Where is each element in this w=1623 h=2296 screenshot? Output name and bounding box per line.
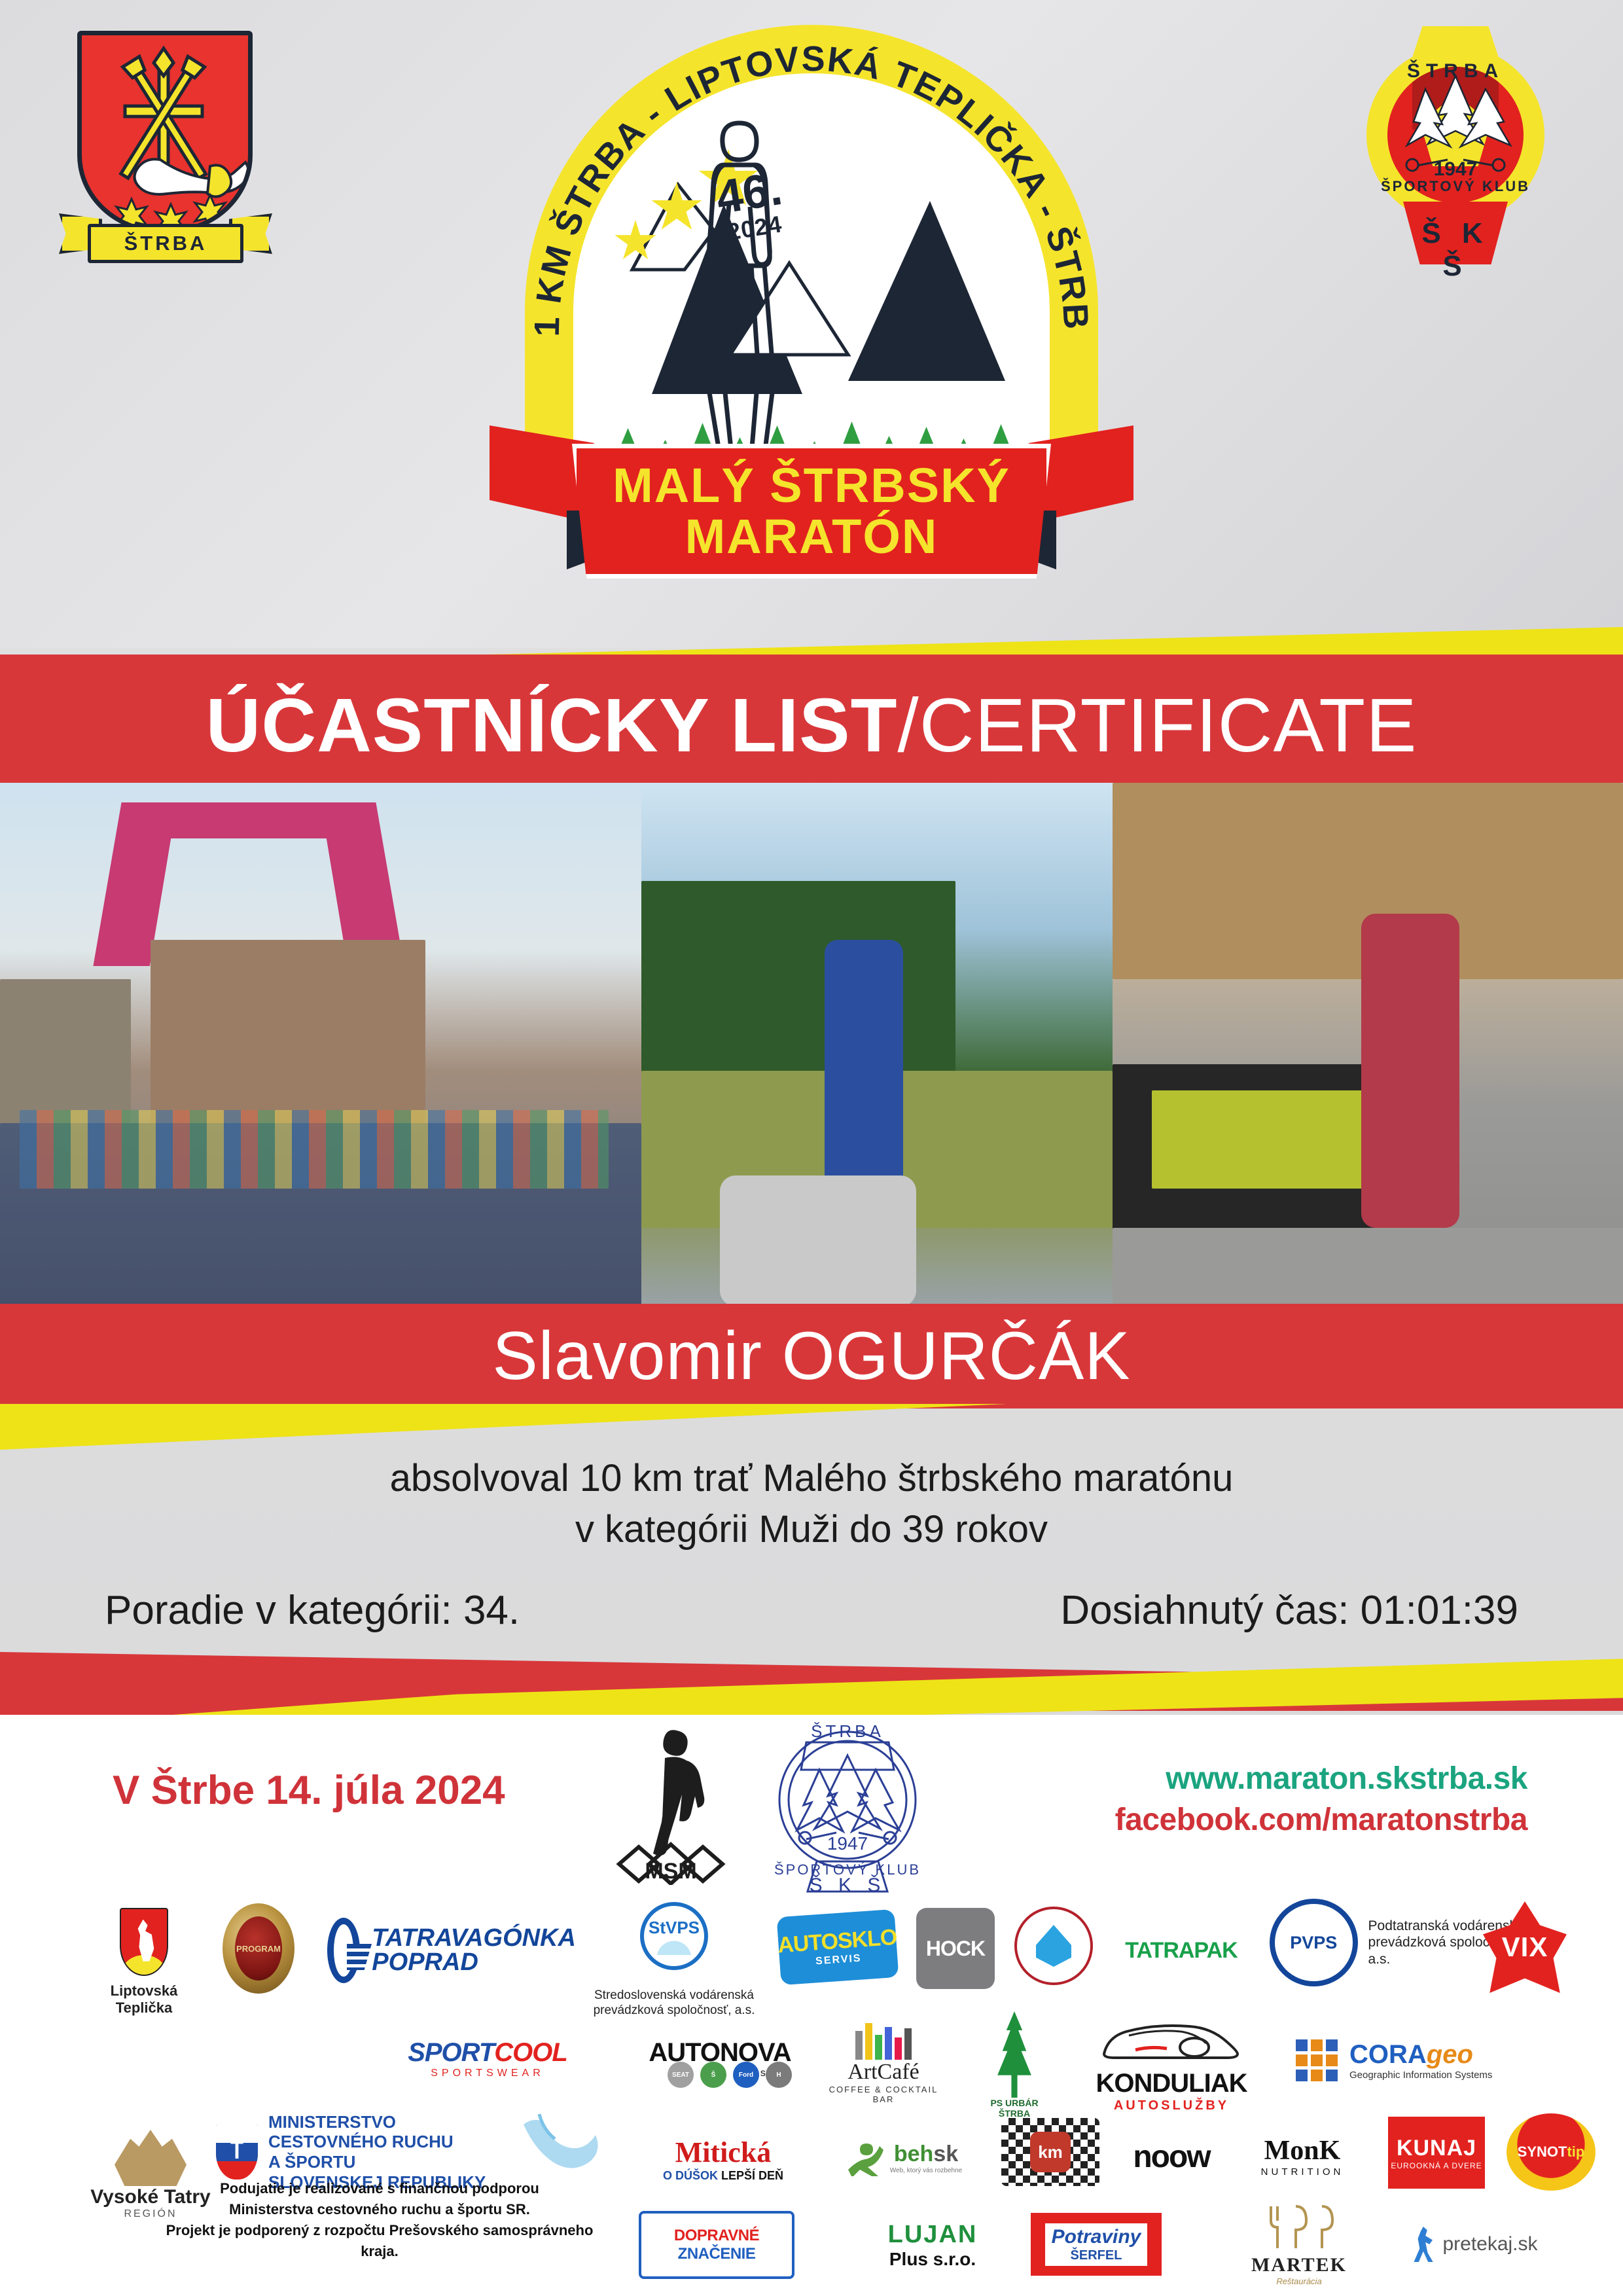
support-note-line: Projekt je podporený z rozpočtu Prešovsk…	[151, 2220, 609, 2262]
pretekaj-label: pretekaj.sk	[1442, 2233, 1537, 2255]
event-emblem: 31 KM ŠTRBA - LIPTOVSKÁ TEPLIČKA - ŠTRBA…	[490, 18, 1133, 634]
race-photo-strip	[0, 783, 1623, 1306]
program-trencin-seal-icon: PROGRAM	[223, 1903, 294, 1994]
potraviny-label: Potraviny	[1052, 2226, 1141, 2248]
km-label: km	[1030, 2132, 1071, 2172]
tatravagonka-mark-icon	[327, 1918, 360, 1983]
autosklo-sublabel: SERVIS	[815, 1952, 862, 1967]
konduliak-car-icon	[1096, 2017, 1247, 2066]
konduliak-sublabel: AUTOSLUŽBY	[1096, 2098, 1247, 2113]
certificate-page: ŠTRBA	[0, 0, 1623, 2296]
sponsor-liptovska-teplicka: Liptovská Teplička	[92, 1897, 196, 2028]
stamp-arc-top: ŠTRBA	[811, 1721, 884, 1741]
sponsor-water-splash	[497, 2092, 622, 2190]
lujan-label: LUJAN	[888, 2221, 978, 2249]
funding-support-note: Podujatie je realizované s finančnou pod…	[151, 2178, 609, 2262]
result-line-2: v kategórii Muži do 39 rokov	[0, 1504, 1623, 1555]
msm-runner-logo: MSM	[609, 1721, 733, 1885]
pvps-label: PVPS	[1290, 1933, 1337, 1953]
tatravagonka-line1: TATRAVAGÓNKA	[372, 1926, 576, 1950]
emblem-bib-number: 46. 2024	[713, 168, 789, 247]
martek-sublabel: Reštaurácia	[1250, 2276, 1348, 2286]
ps-urbar-tree-icon	[990, 2011, 1039, 2098]
coat-of-arms-shield	[77, 31, 253, 234]
konduliak-label: KONDULIAK	[1096, 2069, 1247, 2098]
ministry-line-2: CESTOVNÉHO RUCHU	[268, 2132, 486, 2152]
result-line-1: absolvoval 10 km trať Malého štrbského m…	[0, 1453, 1623, 1504]
coat-of-arms-label: ŠTRBA	[124, 232, 207, 255]
kunaj-sublabel: EUROOKNÁ A DVERE	[1391, 2161, 1482, 2170]
tatrapak-label: TATRAPAK	[1125, 1938, 1237, 1964]
category-rank: Poradie v kategórii: 34.	[105, 1587, 520, 1634]
sks-arc-top-label: ŠTRBA	[1366, 60, 1544, 82]
miticka-sublabel-1: O DÚŠOK	[663, 2169, 721, 2182]
artcafe-label: ArtCafé	[818, 2060, 949, 2085]
sponsor-dopravne-znacenie: DOPRAVNÉ ZNAČENIE	[635, 2206, 798, 2284]
stamp-abbrev: Š K Š	[810, 1874, 886, 1893]
photo-finish-runner	[1113, 783, 1623, 1306]
sponsor-sportcool: SPORTCOOL SPORTSWEAR	[380, 2016, 596, 2101]
program-trencin-label: PROGRAM	[235, 1916, 282, 1981]
pd-crest-icon	[1014, 1907, 1093, 1985]
noow-label: noow	[1133, 2139, 1209, 2175]
emblem-ribbon-line2: MARATÓN	[685, 511, 938, 562]
sponsor-synot-tip: SYNOTtip	[1499, 2106, 1603, 2198]
sportcool-sublabel: SPORTSWEAR	[408, 2068, 567, 2079]
lt-caption-line1: Liptovská	[111, 1982, 178, 2000]
sks-abbrev-label: Š K Š	[1403, 217, 1508, 283]
monk-label: MonK	[1261, 2135, 1344, 2166]
liptovska-teplicka-crest-icon	[120, 1908, 168, 1976]
photo-start-line	[0, 783, 641, 1306]
header-section: ŠTRBA	[0, 0, 1623, 648]
sks-year-label: 1947	[1387, 158, 1524, 181]
sponsor-tatrapak: TATRAPAK	[1106, 1918, 1257, 1983]
sponsor-behsk: behsk Web, ktorý vás rozbehne	[818, 2115, 988, 2200]
corageo-grid-icon	[1296, 2039, 1338, 2081]
car-brand-ford: Ford	[733, 2062, 759, 2088]
potraviny-serfel-icon: Potraviny ŠERFEL	[1031, 2213, 1162, 2276]
title-english: CERTIFICATE	[919, 681, 1418, 769]
ribbon-body: ŠTRBA	[88, 224, 243, 263]
ministry-line-3: A ŠPORTU	[268, 2152, 486, 2172]
svg-text:31 KM ŠTRBA - LIPTOVSKÁ TEPLIČ: 31 KM ŠTRBA - LIPTOVSKÁ TEPLIČKA - ŠTRBA	[525, 25, 1096, 337]
martek-cutlery-icon	[1250, 2204, 1348, 2251]
sponsor-pretekaj: pretekaj.sk	[1381, 2208, 1571, 2280]
tatravagonka-line2: POPRAD	[372, 1950, 576, 1975]
sponsor-tatravagonka: TATRAVAGÓNKA POPRAD	[327, 1905, 576, 1996]
corageo-label-1: CORA	[1349, 2040, 1427, 2069]
strba-coat-of-arms: ŠTRBA	[58, 27, 274, 322]
synot-label-1: SYNOT	[1518, 2144, 1567, 2160]
sponsor-hock: HOCK	[910, 1906, 1001, 1991]
sponsor-martek: MARTEK Reštaurácia	[1224, 2199, 1374, 2291]
corageo-label-2: geo	[1427, 2040, 1473, 2069]
sponsor-potraviny-serfel: Potraviny ŠERFEL	[1021, 2208, 1171, 2280]
finish-time: Dosiahnutý čas: 01:01:39	[1060, 1587, 1518, 1634]
corageo-sublabel: Geographic Information Systems	[1349, 2070, 1492, 2081]
stvps-mark-icon: StVPS	[628, 1902, 720, 1986]
support-note-line: Ministerstva cestovného ruchu a športu S…	[151, 2199, 609, 2220]
sponsor-km-motocentrum: km	[988, 2106, 1113, 2198]
car-brand-hyundai: H	[766, 2062, 792, 2088]
stvps-caption-1: Stredoslovenská vodárenská	[594, 1988, 755, 2003]
dopravne-line-2: ZNAČENIE	[678, 2245, 756, 2263]
miticka-sublabel-2: LEPŠÍ DEŇ	[721, 2169, 783, 2182]
title-slovak: ÚČASTNÍCKY LIST	[206, 681, 898, 769]
dopravne-line-1: DOPRAVNÉ	[674, 2227, 759, 2245]
certificate-title-band: ÚČASTNÍCKY LIST / CERTIFICATE	[0, 655, 1623, 795]
pretekaj-runner-icon	[1414, 2227, 1436, 2262]
sponsor-artcafe: ArtCafé COFFEE & COCKTAIL BAR	[818, 2008, 949, 2119]
km-motocentrum-icon: km	[1001, 2118, 1099, 2186]
synot-label-2: tip	[1567, 2144, 1584, 2160]
sportcool-label-2: COOL	[494, 2038, 567, 2067]
hock-logo-icon: HOCK	[916, 1908, 995, 1989]
behsk-label-1: beh	[894, 2142, 933, 2166]
sponsor-monk-nutrition: MonK NUTRITION	[1230, 2110, 1374, 2202]
behsk-label-2: sk	[933, 2142, 958, 2166]
emblem-ribbon-line1: MALÝ ŠTRBSKÝ	[613, 460, 1010, 511]
sponsor-polnohospodarske-druzstvo	[1008, 1903, 1099, 1988]
sponsor-program-trencin: PROGRAM	[209, 1899, 308, 1998]
car-brand-seat: SEAT	[668, 2062, 694, 2088]
emblem-ribbon-body: MALÝ ŠTRBSKÝ MARATÓN	[572, 444, 1051, 579]
sks-club-stamp: ŠTRBA 1947 ŠPORTOVÝ KLUB Š K Š	[759, 1713, 936, 1893]
potraviny-sublabel: ŠERFEL	[1052, 2248, 1141, 2263]
website-link[interactable]: www.maraton.skstrba.sk	[1115, 1761, 1527, 1797]
miticka-label: Mitická	[663, 2136, 783, 2169]
stamp-year: 1947	[827, 1833, 868, 1854]
behsk-runner-icon	[844, 2140, 883, 2176]
autosklo-label: AUTOSKLO	[777, 1924, 897, 1958]
synot-tip-icon: SYNOTtip	[1507, 2113, 1596, 2191]
sponsor-kunaj: KUNAJ EUROOKNÁ A DVERE	[1381, 2110, 1492, 2195]
result-stats-row: Poradie v kategórii: 34. Dosiahnutý čas:…	[0, 1587, 1623, 1634]
pvps-mark-icon: PVPS	[1270, 1899, 1358, 1986]
slovakia-flag-icon	[216, 2125, 258, 2179]
sponsor-corageo: CORAgeo Geographic Information Systems	[1296, 2015, 1590, 2106]
autosklo-logo-icon: AUTOSKLO SERVIS	[777, 1909, 899, 1985]
sponsor-noow: noow	[1113, 2114, 1230, 2199]
event-date: V Štrbe 14. júla 2024	[113, 1767, 505, 1814]
title-separator: /	[897, 681, 919, 769]
artcafe-sublabel: COFFEE & COCKTAIL BAR	[818, 2085, 949, 2104]
participant-name-band: Slavomir OGURČÁK	[0, 1304, 1623, 1408]
emblem-ribbon: MALÝ ŠTRBSKÝ MARATÓN	[490, 419, 1133, 609]
martek-label: MARTEK	[1250, 2254, 1348, 2276]
yellow-divider-below-name	[0, 1404, 1623, 1450]
water-splash-icon	[510, 2098, 609, 2183]
ministry-line-1: MINISTERSTVO	[268, 2112, 486, 2132]
support-note-line: Podujatie je realizované s finančnou pod…	[151, 2178, 609, 2199]
photo-solo-runner	[641, 783, 1113, 1306]
kunaj-logo-icon: KUNAJ EUROOKNÁ A DVERE	[1388, 2117, 1485, 2189]
kunaj-label: KUNAJ	[1397, 2136, 1476, 2161]
sponsor-miticka: Mitická O DÚŠOK LEPŠÍ DEŇ	[628, 2110, 818, 2208]
sponsor-konduliak: KONDULIAK AUTOSLUŽBY	[1067, 2009, 1276, 2121]
sponsor-vix: VIX	[1472, 1898, 1577, 1996]
sponsor-car-brands: SEAT Š Ford H	[622, 2049, 838, 2101]
facebook-link[interactable]: facebook.com/maratonstrba	[1115, 1802, 1527, 1838]
artcafe-bars-icon	[818, 2023, 949, 2060]
contact-links: www.maraton.skstrba.sk facebook.com/mara…	[1115, 1761, 1527, 1838]
sponsor-autosklo: AUTOSKLO SERVIS	[772, 1905, 903, 1990]
vix-logo-icon: VIX	[1483, 1901, 1567, 1993]
participant-name: Slavomir OGURČÁK	[492, 1318, 1130, 1395]
sponsor-stvps: StVPS Stredoslovenská vodárenská prevádz…	[589, 1898, 759, 2022]
hock-label: HOCK	[926, 1937, 985, 1961]
coat-of-arms-ribbon: ŠTRBA	[58, 204, 274, 279]
sportcool-label-1: SPORT	[408, 2038, 494, 2067]
dopravne-znacenie-icon: DOPRAVNÉ ZNAČENIE	[639, 2211, 794, 2279]
lt-caption-line2: Teplička	[111, 2000, 178, 2017]
msm-logo-label: MSM	[645, 1859, 696, 1884]
stvps-label: StVPS	[649, 1918, 700, 1938]
behsk-sublabel: Web, ktorý vás rozbehne	[890, 2167, 962, 2174]
sponsor-lujan-plus: LUJAN Plus s.r.o.	[857, 2206, 1008, 2284]
car-brand-skoda: Š	[700, 2062, 726, 2088]
result-section: absolvoval 10 km trať Malého štrbského m…	[0, 1453, 1623, 1682]
monk-sublabel: NUTRITION	[1261, 2166, 1344, 2178]
lujan-sublabel: Plus s.r.o.	[888, 2249, 978, 2270]
sks-club-logo: ŠTRBA 1947 ŠPORTOVÝ KLUB Š K Š	[1347, 30, 1563, 331]
sks-arc-bottom-label: ŠPORTOVÝ KLUB	[1366, 178, 1544, 195]
